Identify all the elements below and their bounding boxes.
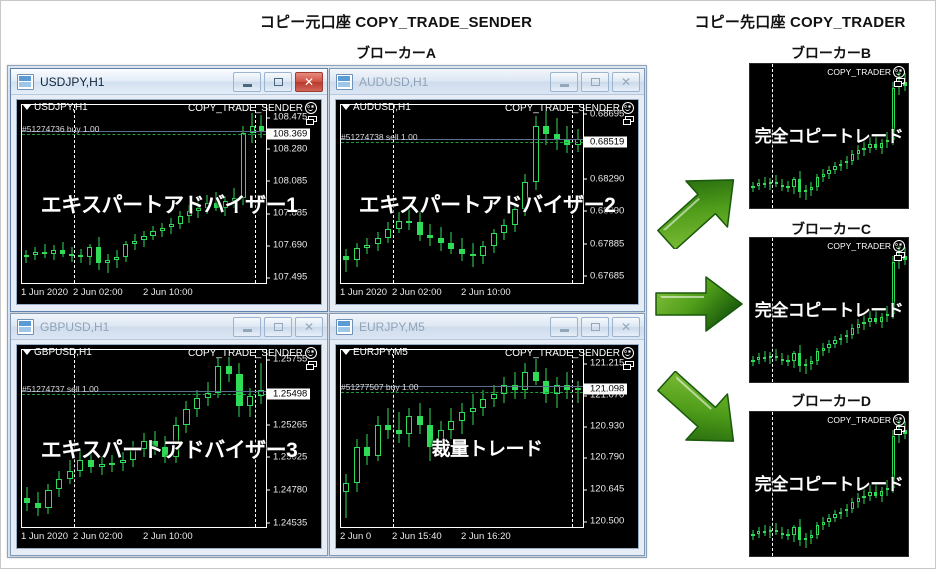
time-tick: 2 Jun 10:00 [461, 287, 511, 298]
time-axis: 1 Jun 20202 Jun 02:002 Jun 10:00 [21, 530, 267, 546]
symbol-label: USDJPY,H1 [23, 102, 88, 113]
arrow-up-right-icon [651, 171, 749, 249]
mt4-terminal: USDJPY,H1 ✕ USDJPY,H1COPY_TRADE_SENDER#5… [7, 65, 647, 558]
close-icon[interactable]: ✕ [612, 317, 640, 337]
broker-c-label: ブローカーC [741, 219, 921, 239]
time-tick: 1 Jun 2020 [340, 287, 387, 298]
account-label: COPY_TRADER [827, 240, 905, 252]
chart-window-icon [336, 74, 353, 90]
price-tick: 108.369 [267, 129, 310, 140]
titlebar[interactable]: EURJPY,M5 ✕ [330, 314, 644, 340]
time-tick: 2 Jun 0 [340, 531, 371, 542]
watermark-label: 完全コピートレード [750, 470, 908, 495]
account-label: COPY_TRADE_SENDER [505, 102, 634, 114]
window-title: EURJPY,M5 [359, 320, 425, 334]
candlestick-chart: COPY_TRADER完全コピートレード [750, 412, 908, 556]
price-tick: 0.67685 [584, 270, 624, 281]
receiver-heading: コピー先口座 COPY_TRADER [661, 11, 938, 32]
chart-window-icon [17, 319, 34, 335]
restore-icon[interactable] [306, 361, 317, 370]
smiley-icon [893, 414, 905, 426]
chart-area[interactable]: EURJPY,M5COPY_TRADE_SENDER#51277507 buy … [335, 344, 639, 549]
window-controls[interactable]: ✕ [550, 72, 640, 92]
broker-a-label: ブローカーA [151, 43, 641, 63]
smiley-icon [305, 347, 317, 359]
chart-window-eurjpy[interactable]: EURJPY,M5 ✕ EURJPY,M5COPY_TRADE_SENDER#5… [329, 313, 645, 556]
account-label: COPY_TRADER [827, 414, 905, 426]
candlestick-chart: COPY_TRADER完全コピートレード [750, 238, 908, 382]
candlestick-chart: COPY_TRADER完全コピートレード [750, 64, 908, 208]
candlestick-chart: EURJPY,M5COPY_TRADE_SENDER#51277507 buy … [336, 345, 638, 548]
price-tick: 121.215 [584, 358, 624, 369]
caret-down-icon[interactable] [23, 105, 31, 110]
minimize-icon[interactable] [550, 317, 578, 337]
titlebar[interactable]: GBPUSD,H1 ✕ [11, 314, 327, 340]
chart-window-icon [336, 319, 353, 335]
candlestick-chart: AUDUSD,H1COPY_TRADE_SENDER#51274738 sell… [336, 100, 638, 304]
watermark-label: エキスパートアドバイザー1 [17, 189, 321, 219]
order-price-line [341, 392, 583, 393]
price-tick: 1.25498 [267, 388, 310, 399]
time-axis: 2 Jun 02 Jun 15:402 Jun 16:20 [340, 530, 584, 546]
account-label: COPY_TRADE_SENDER [505, 347, 634, 359]
watermark-label: 完全コピートレード [750, 296, 908, 321]
price-tick: 107.690 [267, 240, 307, 251]
minimize-icon[interactable] [233, 72, 261, 92]
chart-area[interactable]: GBPUSD,H1COPY_TRADE_SENDER#51274737 sell… [16, 344, 322, 549]
maximize-icon[interactable] [264, 72, 292, 92]
receiver-chart-broker-d[interactable]: COPY_TRADER完全コピートレード [749, 411, 909, 557]
time-axis: 1 Jun 20202 Jun 02:002 Jun 10:00 [340, 286, 584, 302]
price-tick: 121.070 [584, 390, 624, 401]
broker-b-label: ブローカーB [741, 43, 921, 63]
receiver-chart-broker-c[interactable]: COPY_TRADER完全コピートレード [749, 237, 909, 383]
account-label: COPY_TRADE_SENDER [188, 347, 317, 359]
candlestick-chart: USDJPY,H1COPY_TRADE_SENDER#51274736 buy … [17, 100, 321, 304]
price-tick: 108.085 [267, 175, 307, 186]
price-tick: 0.68519 [584, 136, 627, 147]
chart-window-audusd[interactable]: AUDUSD,H1 ✕ AUDUSD,H1COPY_TRADE_SENDER#5… [329, 68, 645, 312]
price-tick: 120.500 [584, 516, 624, 527]
price-tick: 107.495 [267, 272, 307, 283]
restore-icon[interactable] [894, 252, 905, 261]
close-icon[interactable]: ✕ [295, 317, 323, 337]
arrow-right-icon [653, 273, 745, 335]
chart-area[interactable]: USDJPY,H1COPY_TRADE_SENDER#51274736 buy … [16, 99, 322, 305]
window-title: GBPUSD,H1 [40, 320, 109, 334]
time-tick: 2 Jun 15:40 [392, 531, 442, 542]
arrow-down-right-icon [651, 371, 749, 451]
watermark-label: エキスパートアドバイザー3 [17, 434, 321, 464]
time-tick: 2 Jun 02:00 [392, 287, 442, 298]
order-price-line [22, 394, 266, 395]
price-tick: 1.24780 [267, 484, 307, 495]
maximize-icon[interactable] [581, 72, 609, 92]
restore-icon[interactable] [623, 116, 634, 125]
price-tick: 1.24535 [267, 517, 307, 528]
price-tick: 120.930 [584, 421, 624, 432]
order-label: #51274737 sell 1.00 [22, 384, 99, 394]
symbol-label: GBPUSD,H1 [23, 347, 92, 358]
window-title: USDJPY,H1 [40, 75, 104, 89]
time-axis: 1 Jun 20202 Jun 02:002 Jun 10:00 [21, 286, 267, 302]
account-label: COPY_TRADER [827, 66, 905, 78]
window-controls[interactable]: ✕ [233, 317, 323, 337]
smiley-icon [893, 66, 905, 78]
time-tick: 2 Jun 10:00 [143, 531, 193, 542]
price-tick: 108.280 [267, 143, 307, 154]
account-label: COPY_TRADE_SENDER [188, 102, 317, 114]
watermark-label: 完全コピートレード [750, 122, 908, 147]
caret-down-icon[interactable] [342, 350, 350, 355]
price-tick: 120.645 [584, 484, 624, 495]
smiley-icon [622, 347, 634, 359]
smiley-icon [305, 102, 317, 114]
close-icon[interactable]: ✕ [295, 72, 323, 92]
chart-window-usdjpy[interactable]: USDJPY,H1 ✕ USDJPY,H1COPY_TRADE_SENDER#5… [10, 68, 328, 312]
smiley-icon [893, 240, 905, 252]
minimize-icon[interactable] [233, 317, 261, 337]
symbol-label: AUDUSD,H1 [342, 102, 411, 113]
diagram-frame: コピー元口座 COPY_TRADE_SENDER コピー先口座 COPY_TRA… [0, 0, 936, 569]
window-controls[interactable]: ✕ [550, 317, 640, 337]
titlebar[interactable]: USDJPY,H1 ✕ [11, 69, 327, 95]
minimize-icon[interactable] [550, 72, 578, 92]
time-tick: 2 Jun 02:00 [73, 531, 123, 542]
smiley-icon [622, 102, 634, 114]
time-tick: 1 Jun 2020 [21, 531, 68, 542]
order-label: #51277507 buy 1.00 [341, 382, 419, 392]
price-tick: 0.68290 [584, 173, 624, 184]
window-title: AUDUSD,H1 [359, 75, 428, 89]
order-price-line [341, 142, 583, 143]
caret-down-icon[interactable] [342, 105, 350, 110]
maximize-icon[interactable] [264, 317, 292, 337]
restore-icon[interactable] [623, 361, 634, 370]
receiver-chart-broker-b[interactable]: COPY_TRADER完全コピートレード [749, 63, 909, 209]
restore-icon[interactable] [894, 426, 905, 435]
order-label: #51274736 buy 1.00 [22, 124, 100, 134]
chart-window-gbpusd[interactable]: GBPUSD,H1 ✕ GBPUSD,H1COPY_TRADE_SENDER#5… [10, 313, 328, 556]
sender-heading: コピー元口座 COPY_TRADE_SENDER [151, 11, 641, 32]
candlestick-chart: GBPUSD,H1COPY_TRADE_SENDER#51274737 sell… [17, 345, 321, 548]
order-label: #51274738 sell 1.00 [341, 132, 418, 142]
time-tick: 1 Jun 2020 [21, 287, 68, 298]
maximize-icon[interactable] [581, 317, 609, 337]
watermark-label: エキスパートアドバイザー2 [336, 189, 638, 219]
price-tick: 1.25265 [267, 419, 307, 430]
time-tick: 2 Jun 02:00 [73, 287, 123, 298]
time-tick: 2 Jun 16:20 [461, 531, 511, 542]
price-tick: 0.67885 [584, 238, 624, 249]
caret-down-icon[interactable] [23, 350, 31, 355]
broker-d-label: ブローカーD [741, 391, 921, 411]
time-tick: 2 Jun 10:00 [143, 287, 193, 298]
chart-area[interactable]: AUDUSD,H1COPY_TRADE_SENDER#51274738 sell… [335, 99, 639, 305]
titlebar[interactable]: AUDUSD,H1 ✕ [330, 69, 644, 95]
symbol-label: EURJPY,M5 [342, 347, 408, 358]
close-icon[interactable]: ✕ [612, 72, 640, 92]
restore-icon[interactable] [894, 78, 905, 87]
restore-icon[interactable] [306, 116, 317, 125]
watermark-label: 裁量トレード [336, 434, 638, 461]
window-controls[interactable]: ✕ [233, 72, 323, 92]
chart-window-icon [17, 74, 34, 90]
